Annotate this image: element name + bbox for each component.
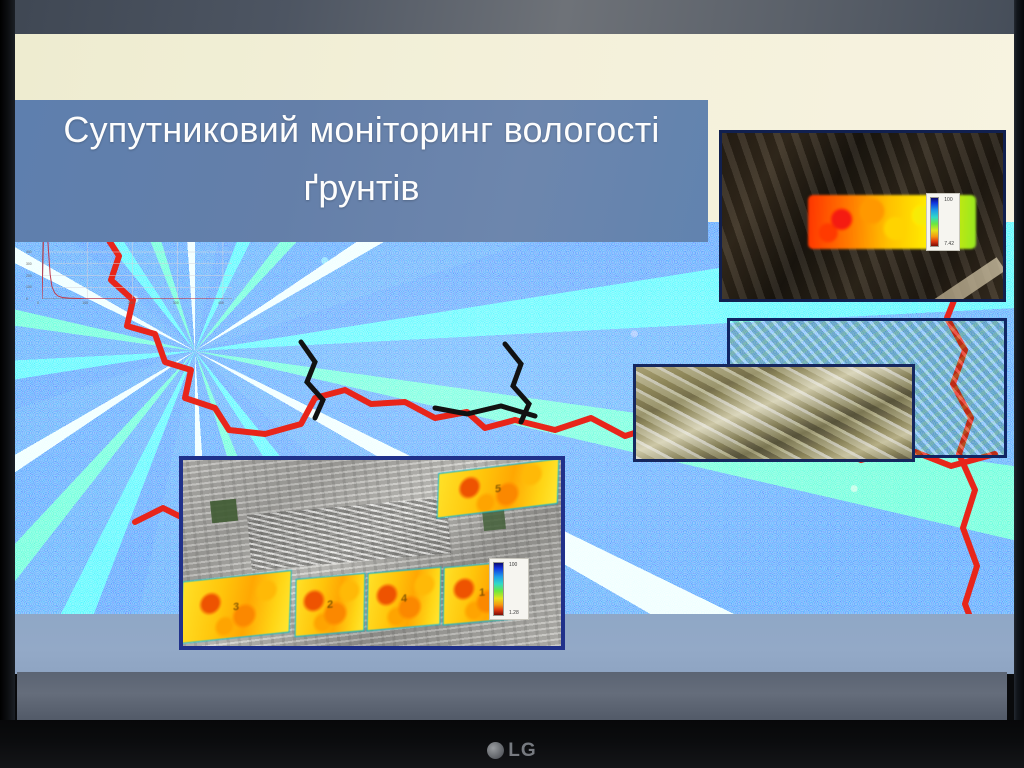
lg-brand-text: LG <box>508 740 536 761</box>
chart-y-tick-label: 0 <box>26 297 28 301</box>
aerial-colorbar: 100 7.42 <box>926 193 960 251</box>
chart-x-tick-label: 400 <box>218 301 224 305</box>
aerial-colorbar-ramp <box>930 197 939 247</box>
chart-y-tick-label: 300 <box>26 262 32 266</box>
slide-title-band: Супутниковий моніторинг вологості ґрунті… <box>15 100 708 242</box>
chart-x-tick-label: 200 <box>127 301 133 305</box>
presentation-slide: Супутниковий моніторинг вологості ґрунті… <box>15 34 1014 674</box>
monitor-bezel-top <box>0 0 1024 34</box>
aerial-colorbar-max: 100 <box>944 197 954 203</box>
chart-y-tick-label: 100 <box>26 285 32 289</box>
lg-logo: LG <box>0 740 1024 762</box>
field-plot-5-label: 5 <box>495 482 502 495</box>
aerial-colorbar-ticks: 100 7.42 <box>942 197 956 247</box>
monitor-bezel-left <box>0 0 15 768</box>
crop-rows-texture <box>636 367 912 459</box>
field-plot-4-label: 4 <box>401 593 407 606</box>
chart-x-tick-label: 300 <box>173 301 179 305</box>
chart-y-tick-label: 200 <box>26 274 32 278</box>
field-plot-2-label: 2 <box>327 599 333 612</box>
dry-field-photo <box>633 364 915 462</box>
chart-x-tick-label: 0 <box>37 301 39 305</box>
aerial-thermal-photo: 100 7.42 <box>719 130 1006 302</box>
field-plot-4[interactable]: 4 <box>367 567 442 632</box>
field-plot-3-label: 3 <box>233 601 240 614</box>
field-plot-1-label: 1 <box>479 587 485 600</box>
page-title: Супутниковий моніторинг вологості <box>63 109 659 151</box>
fields-colorbar: 100 1.28 <box>489 558 529 620</box>
field-plot-2[interactable]: 2 <box>295 573 366 637</box>
lg-mark-icon <box>487 742 504 759</box>
monitor-shelf <box>17 672 1007 720</box>
monitor-bezel-right <box>1014 0 1024 768</box>
vegetation-patch <box>210 499 238 524</box>
fields-colorbar-min: 1.28 <box>509 610 519 616</box>
aerial-colorbar-min: 7.42 <box>944 241 954 247</box>
fields-colorbar-ramp <box>493 562 504 616</box>
monitor: Супутниковий моніторинг вологості ґрунті… <box>0 0 1024 768</box>
field-plot-3[interactable]: 3 <box>180 570 292 644</box>
fields-colorbar-ticks: 100 1.28 <box>507 562 521 616</box>
field-plots-moisture-map: 5 3 2 4 1 100 1.28 <box>179 456 565 650</box>
fields-colorbar-max: 100 <box>509 562 519 568</box>
chart-y-tick-label: 400 <box>26 250 32 254</box>
page-title-second-line: ґрунтів <box>304 167 420 209</box>
chart-x-tick-label: 100 <box>82 301 88 305</box>
